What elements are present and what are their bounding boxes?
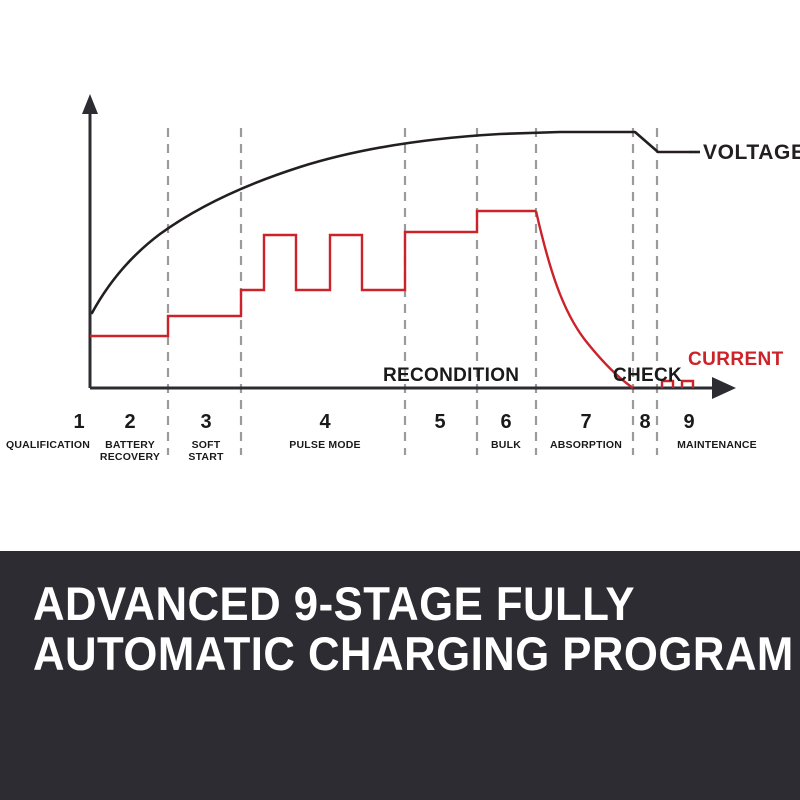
charging-program-diagram: VOLTAGE CURRENT RECONDITION CHECK 1 2 3: [0, 0, 800, 550]
stage-number-6: 6: [500, 411, 511, 433]
current-series: CURRENT: [90, 211, 784, 388]
stage-sublabels: QUALIFICATION BATTERY RECOVERY SOFT STAR…: [6, 439, 757, 463]
stage-sublabel-2-line-2: RECOVERY: [100, 451, 160, 463]
stage-number-8: 8: [639, 411, 650, 433]
stage-sublabel-6-line-1: BULK: [491, 439, 521, 451]
stage-sublabel-1-line-1: QUALIFICATION: [6, 439, 90, 451]
title-banner-text: ADVANCED 9-STAGE FULLY AUTOMATIC CHARGIN…: [33, 579, 780, 679]
stage-sublabel-7-line-1: ABSORPTION: [550, 439, 622, 451]
voltage-legend-label: VOLTAGE: [703, 141, 800, 164]
chart-svg: VOLTAGE CURRENT RECONDITION CHECK 1 2 3: [0, 0, 800, 550]
current-absorption-decay-path: [536, 211, 633, 388]
stage-numbers: 1 2 3 4 5 6 7 8 9: [73, 411, 694, 433]
stage-sublabel-2-line-1: BATTERY: [105, 439, 155, 451]
stage-sublabel-9-line-1: MAINTENANCE: [677, 439, 757, 451]
x-axis-arrowhead: [712, 377, 736, 399]
phase-label-check: CHECK: [613, 365, 682, 386]
stage-number-2: 2: [124, 411, 135, 433]
axes: [82, 94, 736, 399]
current-step-path: [90, 211, 536, 336]
current-legend-label: CURRENT: [688, 349, 784, 370]
y-axis-arrowhead: [82, 94, 98, 114]
voltage-curve-path: [92, 132, 690, 313]
stage-number-3: 3: [200, 411, 211, 433]
stage-sublabel-3-line-1: SOFT: [192, 439, 221, 451]
voltage-series: VOLTAGE: [92, 132, 800, 313]
phase-label-recondition: RECONDITION: [383, 365, 519, 386]
stage-number-7: 7: [580, 411, 591, 433]
title-banner: ADVANCED 9-STAGE FULLY AUTOMATIC CHARGIN…: [0, 551, 800, 800]
page-root: VOLTAGE CURRENT RECONDITION CHECK 1 2 3: [0, 0, 800, 800]
stage-number-5: 5: [434, 411, 445, 433]
banner-title-line-1: ADVANCED 9-STAGE FULLY: [33, 579, 728, 629]
stage-sublabel-3-line-2: START: [188, 451, 224, 463]
stage-number-9: 9: [683, 411, 694, 433]
stage-number-1: 1: [73, 411, 84, 433]
stage-number-4: 4: [319, 411, 331, 433]
stage-sublabel-4-line-1: PULSE MODE: [289, 439, 360, 451]
banner-title-line-2: AUTOMATIC CHARGING PROGRAM: [33, 629, 728, 679]
